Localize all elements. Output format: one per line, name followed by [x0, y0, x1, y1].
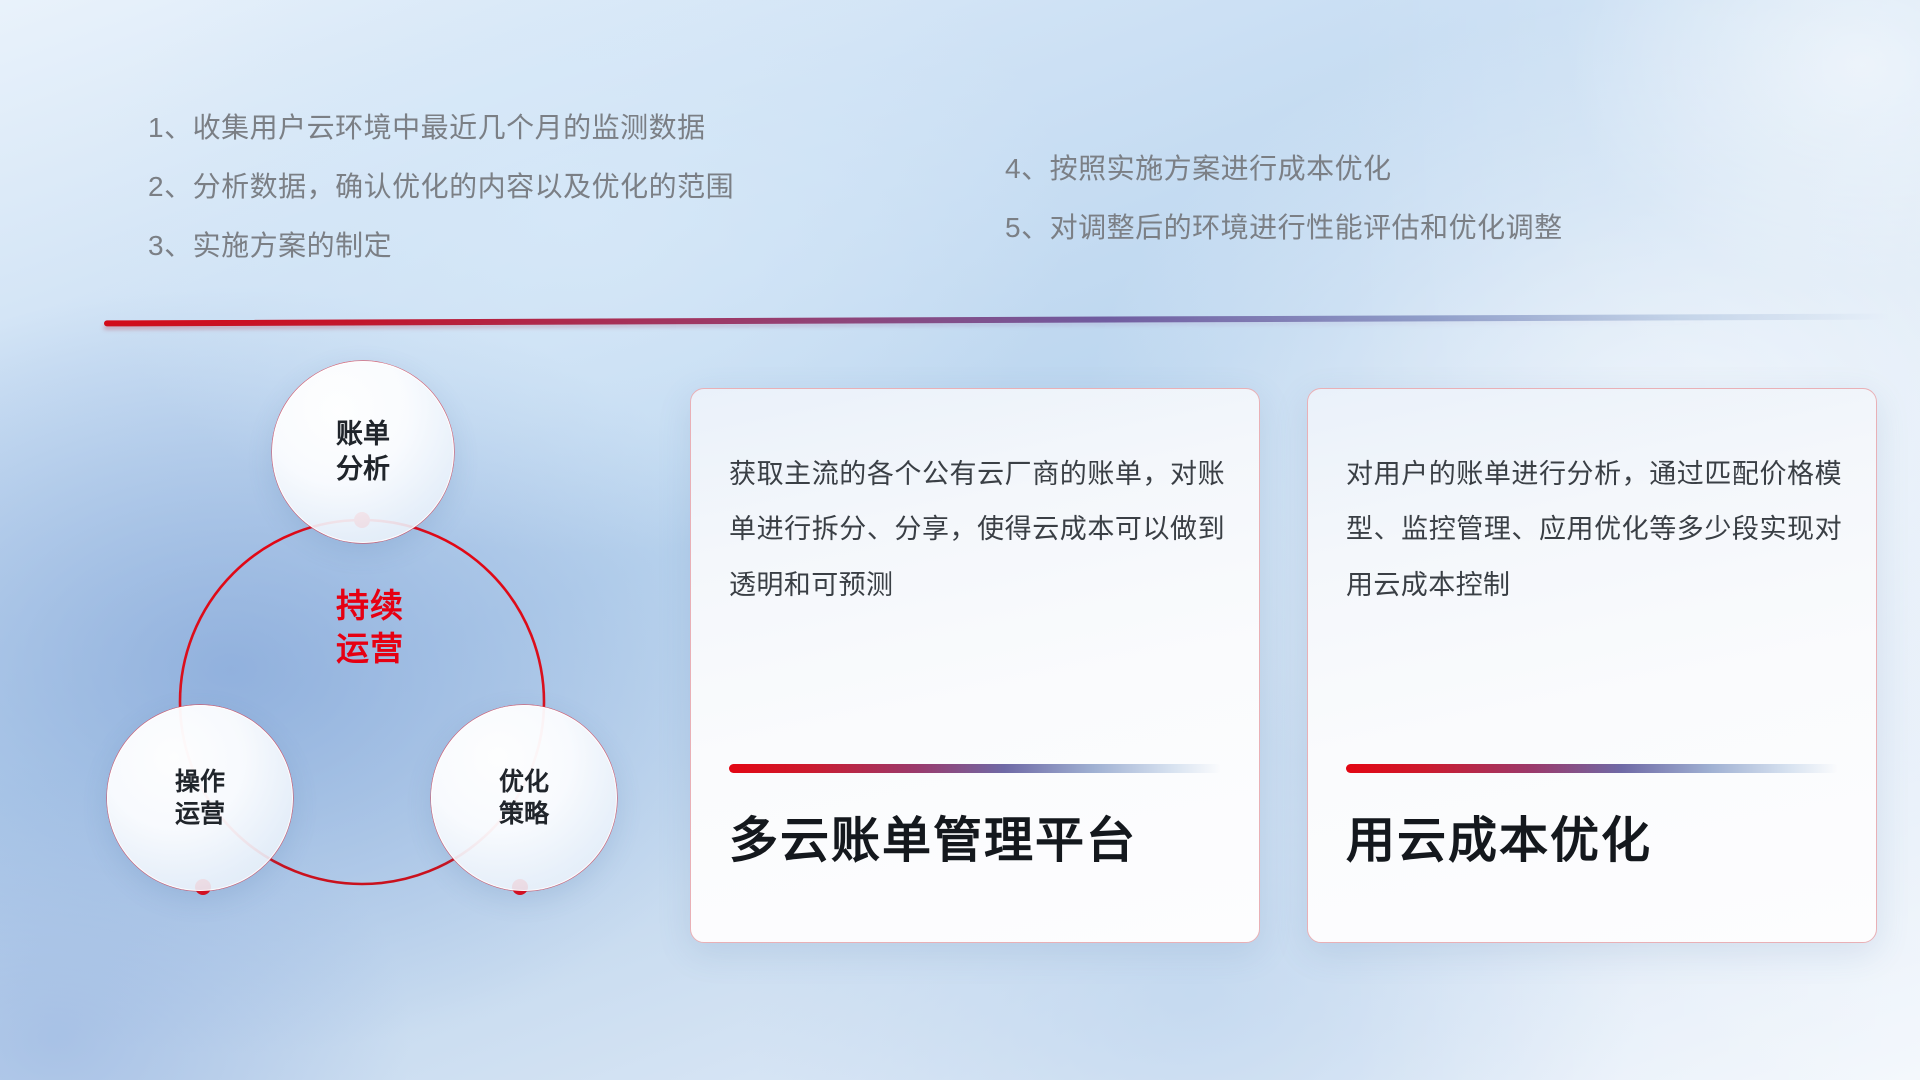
- bubble-optimization-strategy[interactable]: 优化 策略: [431, 705, 617, 891]
- center-label-line1: 持续: [300, 585, 440, 628]
- bubble-right-line2: 策略: [499, 800, 549, 828]
- card-2-accent-rule: [1346, 764, 1838, 773]
- step-item-4: 4、按照实施方案进行成本优化: [1005, 155, 1563, 183]
- step-item-3: 3、实施方案的制定: [148, 232, 734, 260]
- steps-right-column: 4、按照实施方案进行成本优化 5、对调整后的环境进行性能评估和优化调整: [1005, 155, 1563, 273]
- steps-left-column: 1、收集用户云环境中最近几个月的监测数据 2、分析数据，确认优化的内容以及优化的…: [148, 114, 734, 291]
- card-1-accent-rule: [729, 764, 1221, 773]
- diagram-center-label: 持续 运营: [300, 585, 440, 671]
- bubble-right-line1: 优化: [499, 768, 549, 796]
- card-1-title: 多云账单管理平台: [729, 801, 1239, 872]
- card-2-body-text: 对用户的账单进行分析，通过匹配价格模型、监控管理、应用优化等多少段实现对用云成本…: [1346, 447, 1842, 613]
- card-2-title: 用云成本优化: [1346, 801, 1856, 872]
- center-label-line2: 运营: [300, 628, 440, 671]
- bubble-billing-analysis[interactable]: 账单 分析: [272, 361, 454, 543]
- card-cloud-cost-optimization[interactable]: 对用户的账单进行分析，通过匹配价格模型、监控管理、应用优化等多少段实现对用云成本…: [1307, 388, 1877, 943]
- step-item-2: 2、分析数据，确认优化的内容以及优化的范围: [148, 173, 734, 201]
- bubble-top-line1: 账单: [336, 419, 390, 449]
- continuous-operation-diagram: 账单 分析 操作 运营 优化 策略 持续 运营: [95, 355, 655, 945]
- bubble-left-line1: 操作: [175, 768, 225, 796]
- step-item-1: 1、收集用户云环境中最近几个月的监测数据: [148, 114, 734, 142]
- bubble-top-line2: 分析: [336, 454, 390, 484]
- card-multi-cloud-billing[interactable]: 获取主流的各个公有云厂商的账单，对账单进行拆分、分享，使得云成本可以做到透明和可…: [690, 388, 1260, 943]
- bubble-left-line2: 运营: [175, 800, 225, 828]
- card-1-body-text: 获取主流的各个公有云厂商的账单，对账单进行拆分、分享，使得云成本可以做到透明和可…: [729, 447, 1225, 613]
- step-item-5: 5、对调整后的环境进行性能评估和优化调整: [1005, 214, 1563, 242]
- bubble-operations[interactable]: 操作 运营: [107, 705, 293, 891]
